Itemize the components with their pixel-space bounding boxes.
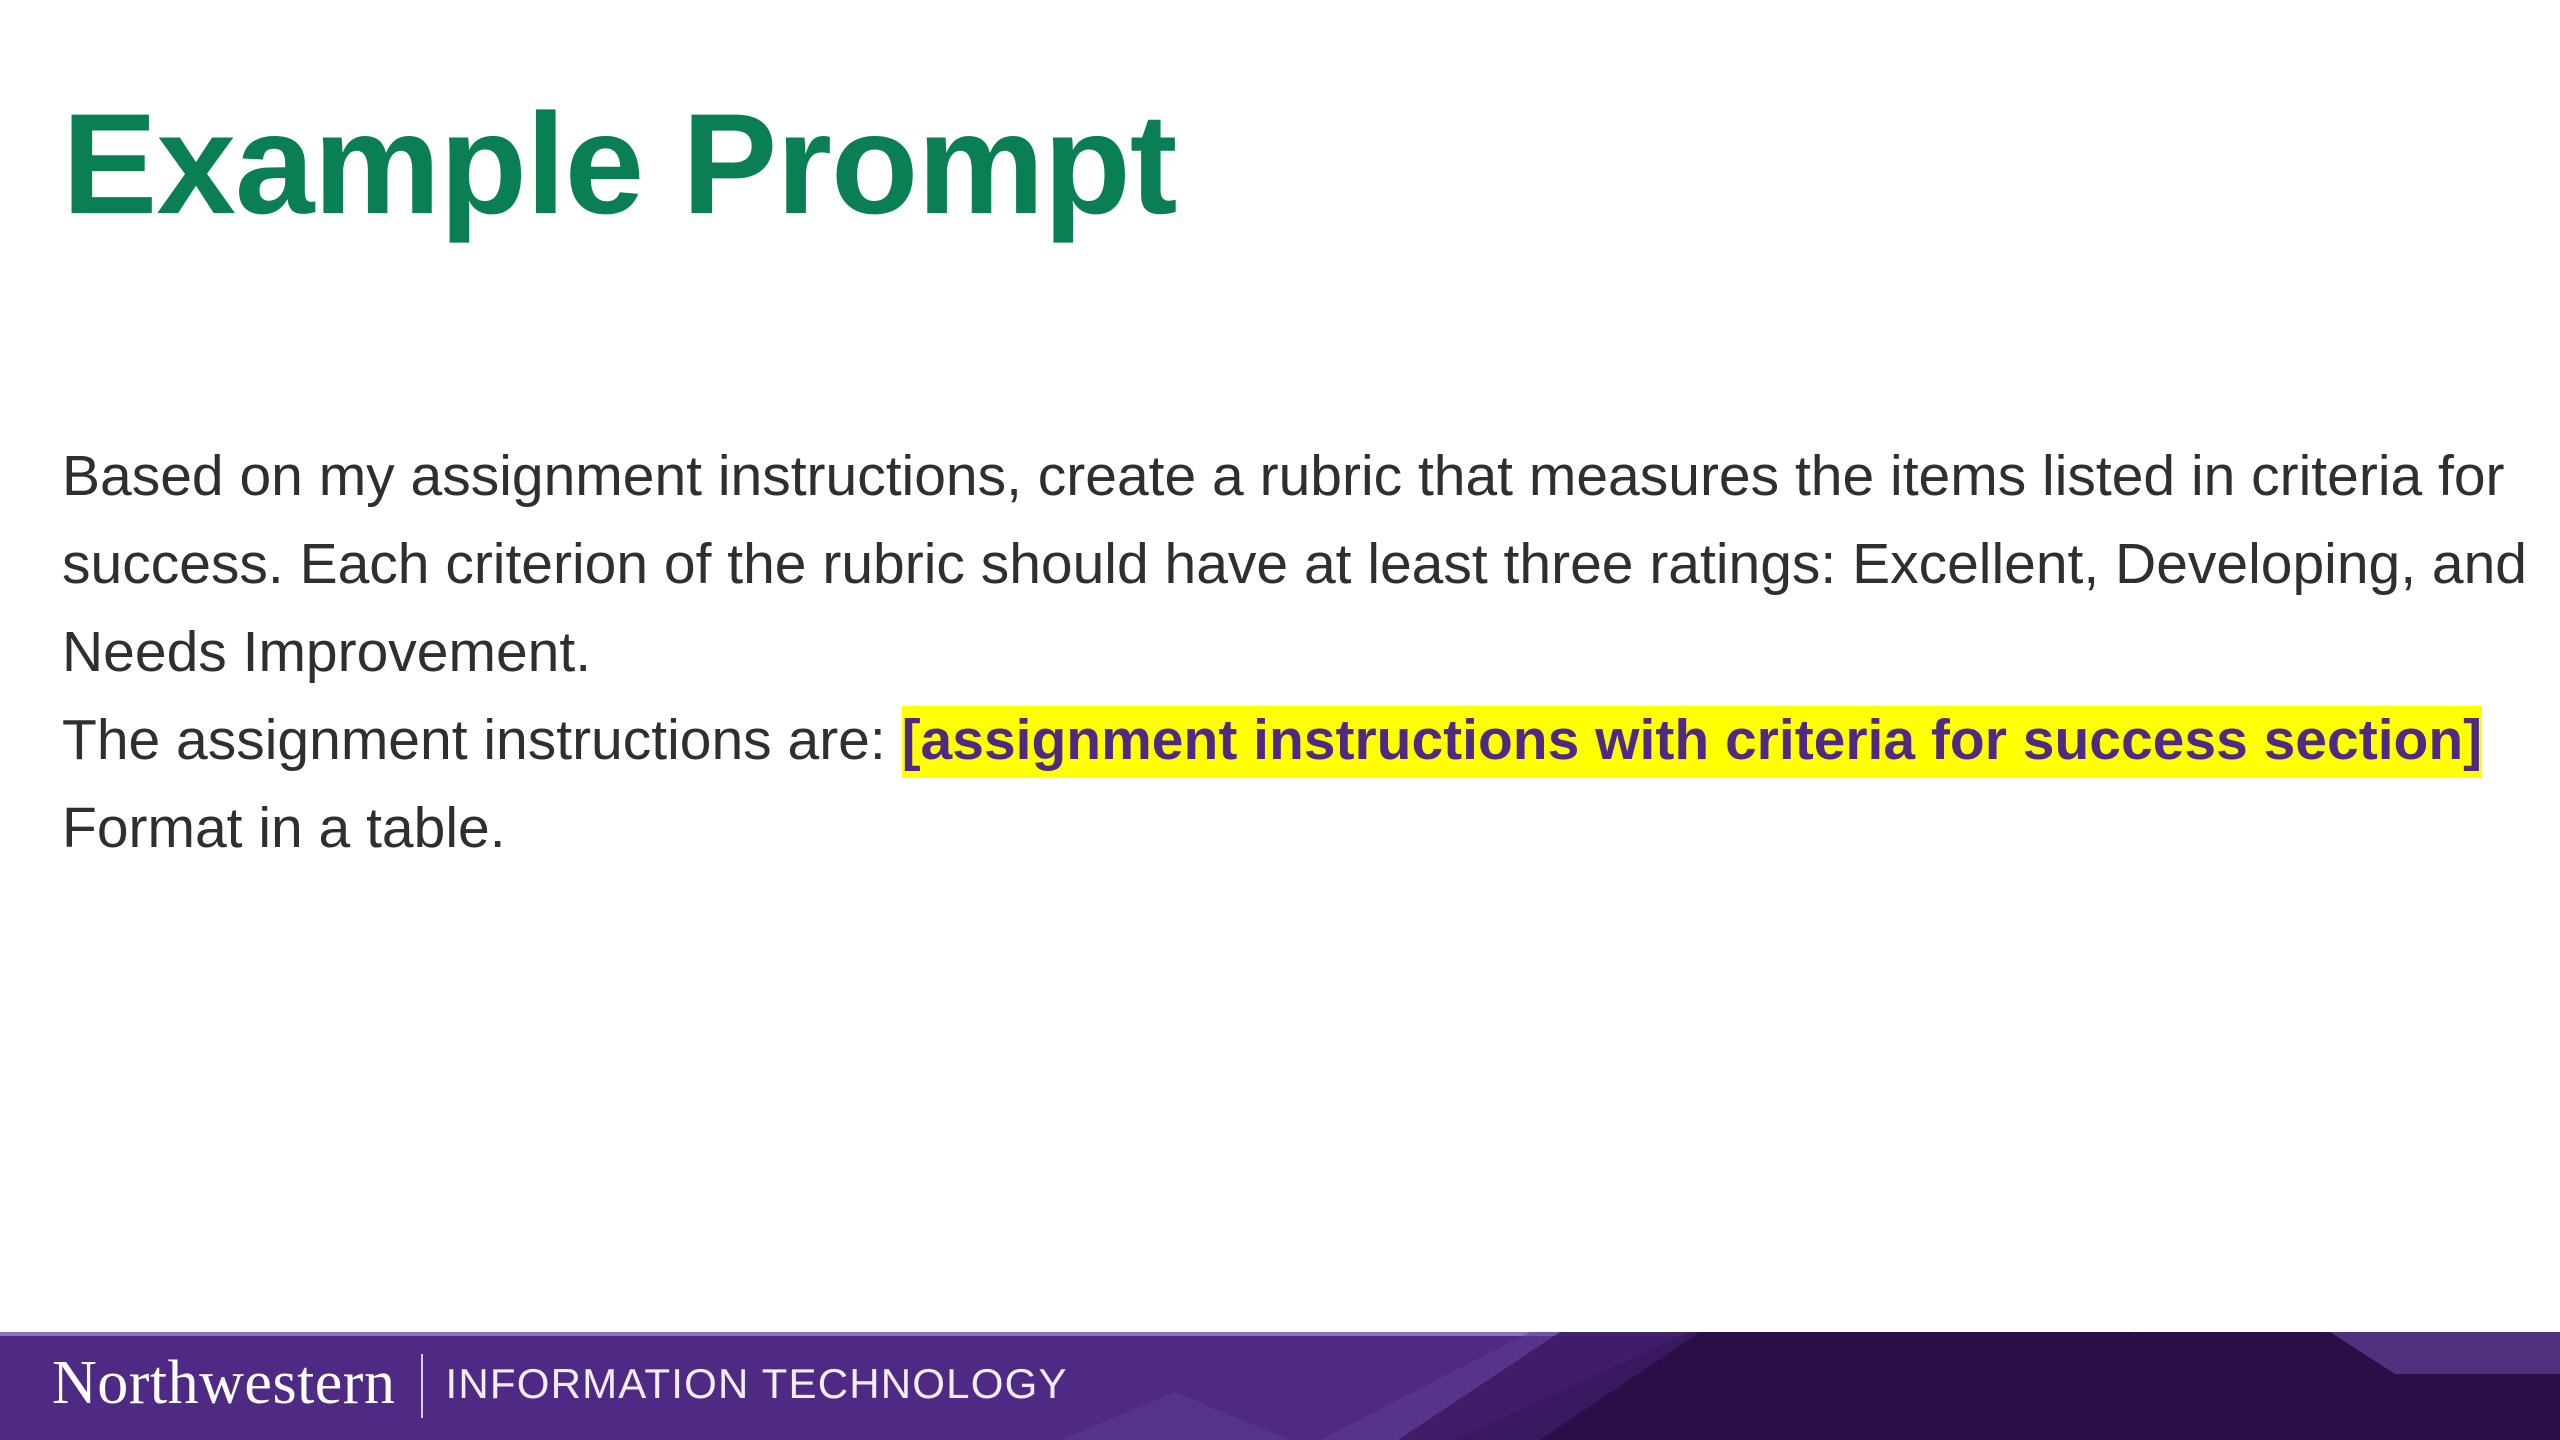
page-title: Example Prompt (62, 85, 1176, 245)
northwestern-wordmark: Northwestern (52, 1352, 395, 1420)
body-paragraph-1: Based on my assignment instructions, cre… (62, 432, 2532, 696)
footer-bar: Northwestern INFORMATION TECHNOLOGY (0, 1332, 2560, 1440)
slide-body: Based on my assignment instructions, cre… (62, 432, 2532, 872)
brand-lockup: Northwestern INFORMATION TECHNOLOGY (52, 1352, 1068, 1420)
body-paragraph-2: The assignment instructions are: [assign… (62, 696, 2532, 784)
brand-divider (421, 1354, 423, 1418)
slide-canvas: Example Prompt Based on my assignment in… (0, 0, 2560, 1440)
unit-name-label: INFORMATION TECHNOLOGY (445, 1363, 1067, 1409)
body-paragraph-2-prefix: The assignment instructions are: (62, 708, 902, 772)
body-paragraph-3: Format in a table. (62, 784, 2532, 872)
highlighted-placeholder-text: [assignment instructions with criteria f… (902, 706, 2483, 778)
